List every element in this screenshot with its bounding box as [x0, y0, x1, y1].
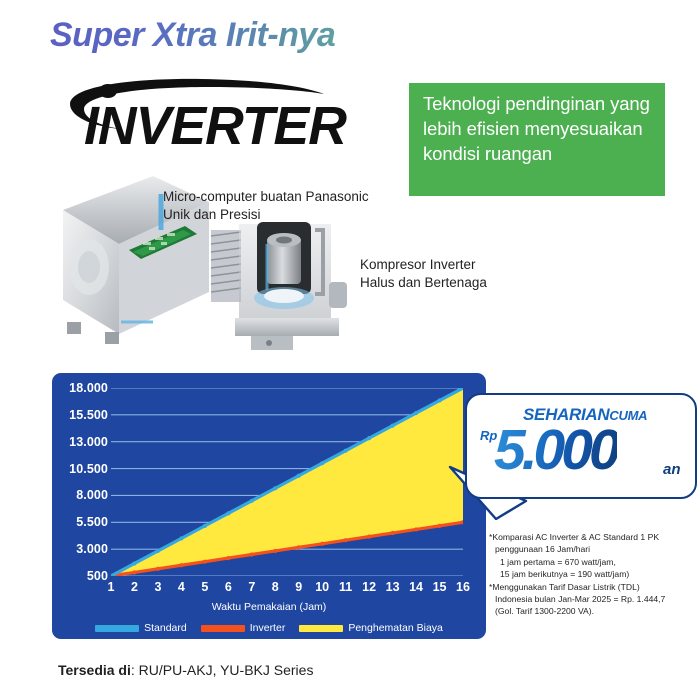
caption-kompresor: Kompresor Inverter Halus dan Bertenaga — [360, 256, 487, 292]
page-title: Super Xtra Irit-nya — [50, 16, 335, 55]
footnotes: *Komparasi AC Inverter & AC Standard 1 P… — [489, 531, 694, 618]
chart-x-tick: 7 — [248, 580, 255, 594]
legend-swatch — [201, 625, 245, 632]
chart-x-axis-title: Waktu Pemakaian (Jam) — [52, 601, 486, 613]
legend-item: Standard — [95, 622, 187, 634]
legend-item: Penghematan Biaya — [299, 622, 443, 634]
chart-y-tick: 13.000 — [52, 435, 108, 449]
availability-value: RU/PU-AKJ, YU-BKJ Series — [139, 662, 314, 678]
poster-root: Super Xtra Irit-nya INVERTER Teknologi p… — [0, 0, 700, 700]
cost-comparison-chart: 5003.0005.5008.00010.50013.00015.50018.0… — [52, 373, 486, 639]
svg-text:INVERTER: INVERTER — [84, 96, 347, 150]
caption-microcomputer-line1: Micro-computer buatan Panasonic — [163, 188, 369, 206]
legend-swatch — [95, 625, 139, 632]
chart-y-axis: 5003.0005.5008.00010.50013.00015.50018.0… — [52, 381, 108, 581]
chart-y-tick: 3.000 — [52, 542, 108, 556]
availability-line: Tersedia di: RU/PU-AKJ, YU-BKJ Series — [58, 662, 313, 678]
price-value: 5.000 — [494, 419, 617, 481]
caption-microcomputer: Micro-computer buatan Panasonic Unik dan… — [163, 188, 369, 224]
footnote-line: 1 jam pertama = 670 watt/jam, — [489, 556, 694, 568]
chart-y-tick: 15.500 — [52, 408, 108, 422]
legend-item: Inverter — [201, 622, 286, 634]
chart-x-tick: 10 — [315, 580, 329, 594]
green-callout-text: Teknologi pendinginan yang lebih efisien… — [423, 91, 653, 166]
chart-x-tick: 5 — [201, 580, 208, 594]
chart-x-tick: 15 — [433, 580, 447, 594]
chart-legend: StandardInverterPenghematan Biaya — [52, 621, 486, 635]
price-callout-bubble: SEHARIANCUMA Rp 5.000 an — [465, 393, 697, 499]
footnote-line: *Menggunakan Tarif Dasar Listrik (TDL) — [489, 581, 694, 593]
chart-x-tick: 12 — [362, 580, 376, 594]
chart-x-tick: 8 — [272, 580, 279, 594]
footnote-line: Indonesia bulan Jan-Mar 2025 = Rp. 1.444… — [489, 593, 694, 605]
compressor-photo — [211, 222, 361, 362]
chart-plot-area — [111, 388, 463, 576]
inverter-logo: INVERTER — [62, 78, 354, 150]
chart-x-tick: 11 — [339, 580, 352, 594]
availability-label: Tersedia di — [58, 662, 131, 678]
chart-x-tick: 9 — [295, 580, 302, 594]
chart-x-tick: 16 — [456, 580, 470, 594]
caption-kompresor-line2: Halus dan Bertenaga — [360, 274, 487, 292]
chart-x-axis: 12345678910111213141516 — [111, 580, 463, 598]
green-callout-box: Teknologi pendinginan yang lebih efisien… — [409, 83, 665, 196]
caption-microcomputer-line2: Unik dan Presisi — [163, 206, 369, 224]
chart-x-tick: 6 — [225, 580, 232, 594]
chart-y-tick: 8.000 — [52, 488, 108, 502]
legend-swatch — [299, 625, 343, 632]
chart-x-tick: 1 — [108, 580, 115, 594]
chart-x-tick: 3 — [154, 580, 161, 594]
footnote-line: (Gol. Tarif 1300-2200 VA). — [489, 605, 694, 617]
chart-x-tick: 14 — [409, 580, 423, 594]
chart-x-tick: 2 — [131, 580, 138, 594]
chart-y-tick: 500 — [52, 569, 108, 583]
legend-label: Inverter — [250, 622, 286, 634]
chart-y-tick: 10.500 — [52, 462, 108, 476]
price-suffix: an — [663, 461, 681, 478]
legend-label: Standard — [144, 622, 187, 634]
chart-y-tick: 5.500 — [52, 515, 108, 529]
legend-label: Penghematan Biaya — [348, 622, 443, 634]
chart-x-tick: 4 — [178, 580, 185, 594]
caption-kompresor-line1: Kompresor Inverter — [360, 256, 487, 274]
footnote-line: *Komparasi AC Inverter & AC Standard 1 P… — [489, 531, 694, 543]
availability-separator: : — [131, 662, 139, 678]
chart-x-tick: 13 — [386, 580, 400, 594]
footnote-line: penggunaan 16 Jam/hari — [489, 543, 694, 555]
footnote-line: 15 jam berikutnya = 190 watt/jam) — [489, 568, 694, 580]
chart-y-tick: 18.000 — [52, 381, 108, 395]
